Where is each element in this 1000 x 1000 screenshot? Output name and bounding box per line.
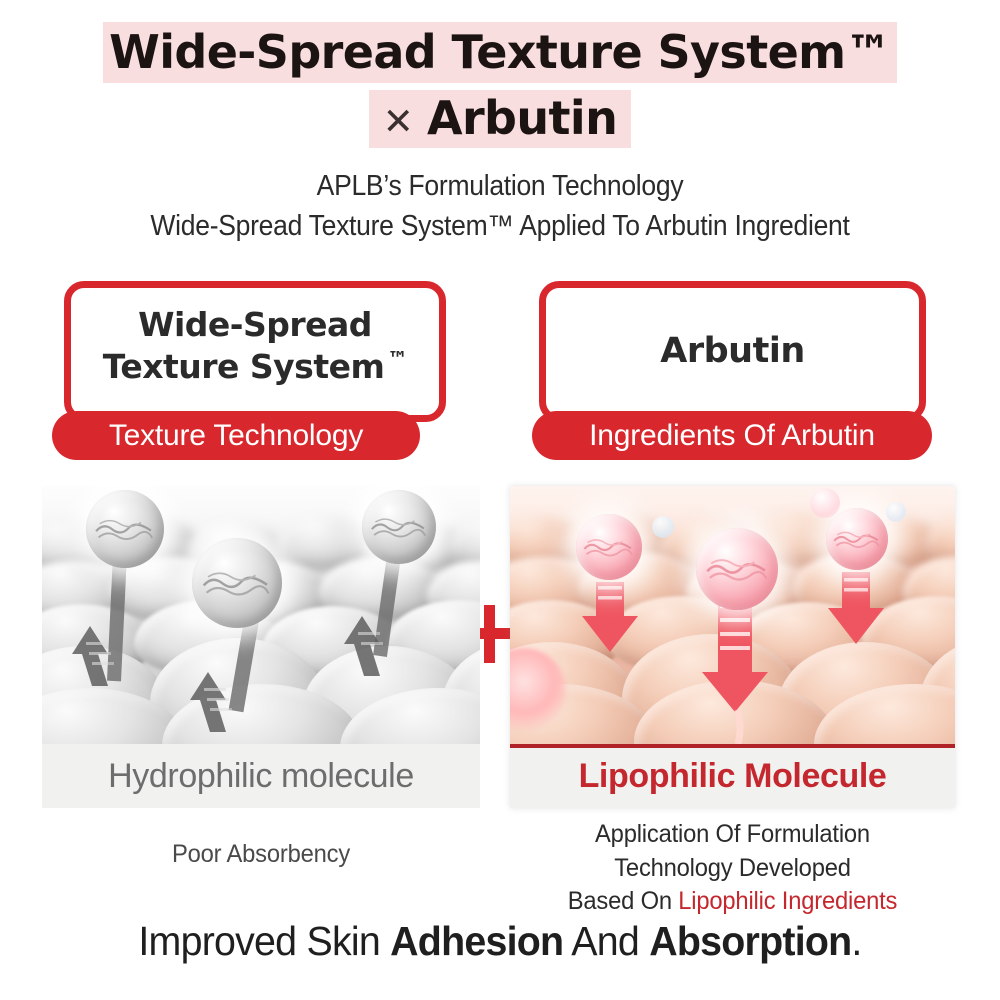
molecule-squiggle-icon xyxy=(199,561,275,604)
caption-prefix: Based On xyxy=(568,887,679,915)
hydrophilic-caption: Poor Absorbency xyxy=(53,840,469,869)
title-line-1-text: Wide-Spread Texture System™ xyxy=(103,22,897,83)
lipophilic-illustration xyxy=(510,486,955,744)
title-line-2-wrap: ✕Arbutin xyxy=(369,90,632,148)
molecule-sphere xyxy=(826,508,888,570)
molecule-sphere xyxy=(696,528,778,610)
molecule-stem xyxy=(114,554,120,681)
lipophilic-label-strip: Lipophilic Molecule xyxy=(510,744,955,808)
lipophilic-caption-line-1: Application Of Formulation xyxy=(521,818,944,852)
ingredients-of-arbutin-pill: Ingredients Of Arbutin xyxy=(532,411,932,460)
molecule-squiggle-icon xyxy=(581,531,636,563)
subtitle-line-2: Wide-Spread Texture System™ Applied To A… xyxy=(35,206,965,246)
molecule-sphere xyxy=(576,514,642,580)
hydrophilic-label: Hydrophilic molecule xyxy=(42,744,480,808)
title-line-2-text: Arbutin xyxy=(427,91,617,145)
texture-system-box: Wide-Spread Texture System™ xyxy=(64,281,446,422)
lipophilic-caption-line-3: Based On Lipophilic Ingredients xyxy=(521,885,944,919)
arrow-down-icon xyxy=(702,596,768,712)
lipophilic-panel: Lipophilic Molecule xyxy=(510,486,955,808)
lipophilic-caption-line-2: Technology Developed xyxy=(521,852,944,886)
texture-system-line-1: Wide-Spread xyxy=(138,305,372,344)
label-divider xyxy=(510,744,955,748)
molecule-squiggle-icon xyxy=(831,524,883,554)
hydrophilic-panel: Hydrophilic molecule xyxy=(42,486,480,808)
caption-highlight: Lipophilic Ingredients xyxy=(678,887,897,915)
molecule-stem xyxy=(380,556,394,656)
hydrophilic-label-strip: Hydrophilic molecule xyxy=(42,744,480,808)
molecule-squiggle-icon xyxy=(92,510,158,547)
footer-bold-adhesion: Adhesion xyxy=(390,918,563,964)
molecule-squiggle-icon xyxy=(703,549,772,588)
footer-part-2: And xyxy=(563,918,649,964)
molecule-squiggle-icon xyxy=(368,509,430,545)
arrow-down-icon xyxy=(582,582,638,652)
arrow-down-icon xyxy=(828,572,884,644)
subtitle-line-1: APLB’s Formulation Technology xyxy=(35,166,965,206)
plus-icon-vertical-bar xyxy=(484,605,495,663)
arbutin-box-text: Arbutin xyxy=(546,330,919,372)
molecule-sphere xyxy=(86,490,164,568)
title-line-2: ✕Arbutin xyxy=(0,90,1000,148)
cross-icon: ✕ xyxy=(383,101,427,142)
footer-tagline: Improved Skin Adhesion And Absorption. xyxy=(20,918,980,965)
texture-system-box-text: Wide-Spread Texture System™ xyxy=(71,304,439,388)
molecule-sphere xyxy=(192,538,282,628)
arrow-group xyxy=(510,486,955,744)
page-title: Wide-Spread Texture System™ ✕Arbutin xyxy=(0,22,1000,148)
hydrophilic-illustration xyxy=(42,486,480,744)
molecule-sphere xyxy=(362,490,436,564)
texture-system-line-2: Texture System xyxy=(103,347,385,386)
arrow-up-icon xyxy=(190,672,232,732)
lipophilic-label: Lipophilic Molecule xyxy=(510,744,955,808)
trademark-icon: ™ xyxy=(387,347,407,371)
title-line-1: Wide-Spread Texture System™ xyxy=(0,22,1000,83)
footer-part-1: Improved Skin xyxy=(138,918,390,964)
footer-part-3: . xyxy=(851,918,861,964)
lipophilic-caption: Application Of Formulation Technology De… xyxy=(510,818,955,919)
subtitle: APLB’s Formulation Technology Wide-Sprea… xyxy=(0,166,1000,247)
bokeh-bubble xyxy=(810,488,840,518)
absorption-trail xyxy=(738,710,740,744)
footer-bold-absorption: Absorption xyxy=(649,918,851,964)
arbutin-box: Arbutin xyxy=(539,281,926,422)
bokeh-bubble xyxy=(886,502,906,522)
texture-technology-pill: Texture Technology xyxy=(52,411,420,460)
bokeh-bubble xyxy=(652,516,674,538)
